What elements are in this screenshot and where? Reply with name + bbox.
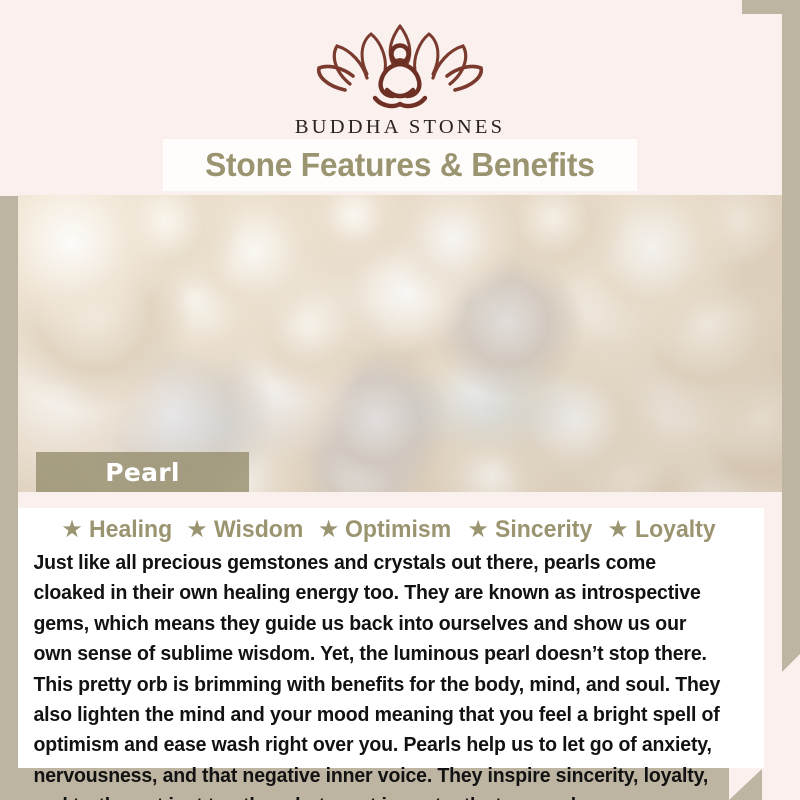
star-icon: ★ bbox=[186, 518, 208, 542]
stone-name-label: Pearl bbox=[105, 458, 180, 487]
benefit-healing: ★ Healing bbox=[61, 516, 177, 544]
benefit-label: Optimism bbox=[345, 516, 451, 544]
star-icon: ★ bbox=[61, 518, 83, 542]
content-card: ★ Healing ★ Wisdom ★ Optimism ★ Sincerit… bbox=[18, 508, 764, 768]
benefits-row: ★ Healing ★ Wisdom ★ Optimism ★ Sincerit… bbox=[18, 508, 764, 546]
benefit-optimism: ★ Optimism bbox=[318, 516, 459, 544]
title-banner: Stone Features & Benefits bbox=[163, 139, 637, 191]
benefit-label: Loyalty bbox=[635, 516, 716, 544]
brand-wordmark: BUDDHA STONES bbox=[0, 116, 800, 139]
stone-name-tab: Pearl bbox=[36, 452, 249, 492]
frame-left-bar bbox=[0, 196, 18, 800]
benefit-wisdom: ★ Wisdom bbox=[186, 516, 309, 544]
benefit-label: Healing bbox=[89, 516, 172, 544]
description-text: Just like all precious gemstones and cry… bbox=[18, 546, 738, 800]
benefit-loyalty: ★ Loyalty bbox=[607, 516, 720, 544]
stone-benefits-poster: BUDDHA STONES Stone Features & Benefits … bbox=[0, 0, 800, 800]
page-title: Stone Features & Benefits bbox=[205, 146, 595, 184]
frame-top-mask bbox=[0, 0, 742, 14]
brand-logo: BUDDHA STONES bbox=[0, 18, 800, 139]
star-icon: ★ bbox=[607, 518, 629, 542]
benefit-label: Sincerity bbox=[495, 516, 592, 544]
hero-image bbox=[18, 195, 782, 492]
benefit-sincerity: ★ Sincerity bbox=[467, 516, 598, 544]
star-icon: ★ bbox=[318, 518, 340, 542]
pearl-photo-sheen bbox=[18, 195, 782, 492]
benefit-label: Wisdom bbox=[214, 516, 303, 544]
star-icon: ★ bbox=[467, 518, 489, 542]
lotus-meditation-figure-icon bbox=[305, 18, 495, 110]
